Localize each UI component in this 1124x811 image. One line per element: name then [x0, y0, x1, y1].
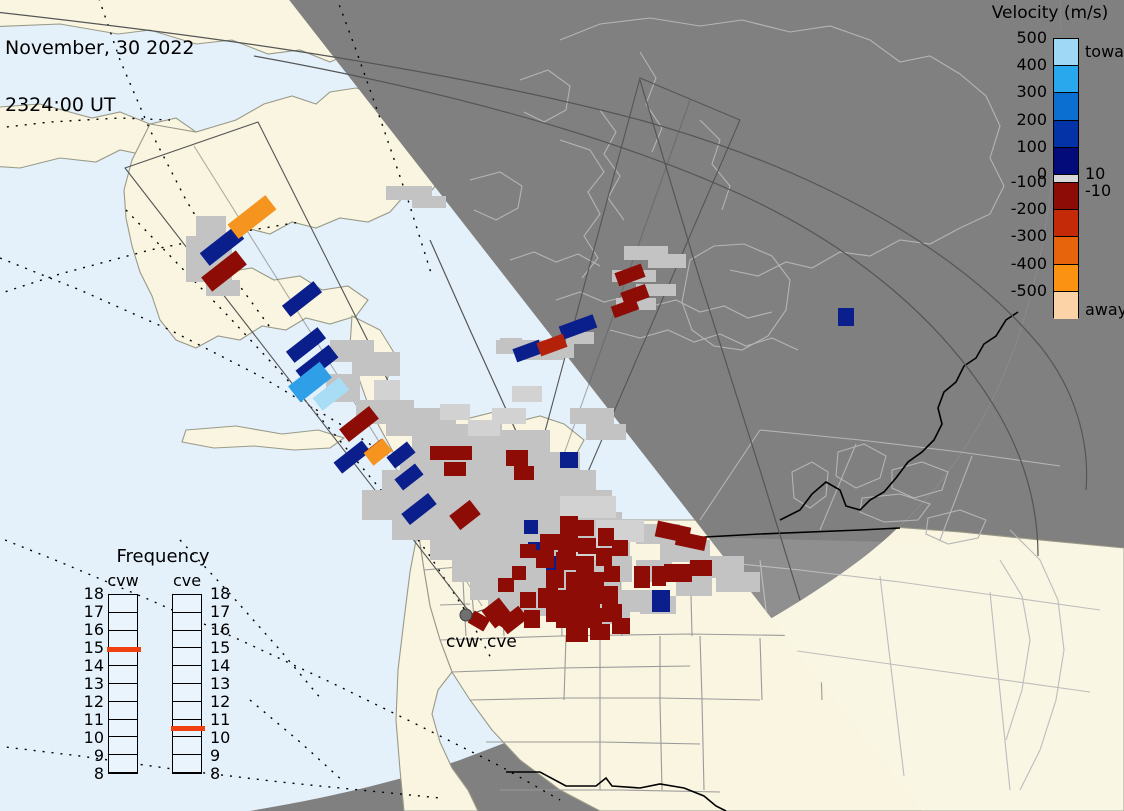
frequency-scale-label-15: 15	[210, 640, 234, 656]
frequency-scale-label-17: 17	[80, 604, 104, 620]
velocity-tick--200: -200	[992, 201, 1047, 217]
frequency-scale-label-11: 11	[80, 712, 104, 728]
site-label-cvw: cvw	[446, 632, 479, 652]
frequency-scale-label-10: 10	[210, 730, 234, 746]
frequency-cell	[109, 631, 137, 649]
velocity-tick--400: -400	[992, 256, 1047, 272]
fan-plot-canvas: November, 30 2022 2324:00 UT cvw cve Vel…	[0, 0, 1124, 811]
velocity-band-100	[1054, 148, 1078, 175]
frequency-scale-label-17: 17	[210, 604, 234, 620]
frequency-scale-label-12: 12	[80, 694, 104, 710]
velocity-band--400	[1054, 265, 1078, 292]
frequency-bar-cvw[interactable]	[108, 594, 138, 774]
velocity-band-200	[1054, 121, 1078, 148]
timestamp-date: November, 30 2022	[5, 39, 195, 58]
timestamp: November, 30 2022 2324:00 UT	[5, 1, 195, 153]
radar-site-marker	[460, 609, 472, 621]
frequency-cell	[109, 613, 137, 631]
frequency-scale-label-9: 9	[80, 748, 104, 764]
frequency-bar-cve[interactable]	[172, 594, 202, 774]
velocity-tick-500: 500	[992, 30, 1047, 46]
frequency-column-name-cvw: cvw	[107, 571, 138, 590]
frequency-cell	[173, 595, 201, 613]
frequency-column-cvw: cvw18171615141312111098	[108, 594, 138, 774]
velocity-colorbar: Velocity (m/s) 5004003002001000-100-200-…	[975, 0, 1124, 330]
frequency-cell	[173, 737, 201, 755]
velocity-tick-100: 100	[992, 139, 1047, 155]
frequency-scale-label-13: 13	[80, 676, 104, 692]
velocity-band--500	[1054, 292, 1078, 319]
frequency-marker-cvw	[107, 647, 141, 652]
frequency-cell	[109, 666, 137, 684]
velocity-tick-400: 400	[992, 57, 1047, 73]
frequency-scale-label-14: 14	[210, 658, 234, 674]
frequency-legend: Frequency cvw18171615141312111098cve1817…	[88, 546, 238, 791]
velocity-band--300	[1054, 237, 1078, 264]
frequency-cell	[109, 595, 137, 613]
frequency-cell	[173, 684, 201, 702]
velocity-tick-300: 300	[992, 84, 1047, 100]
velocity-band--100	[1054, 183, 1078, 210]
frequency-scale-label-10: 10	[80, 730, 104, 746]
velocity-toward-label: toward	[1085, 44, 1124, 60]
velocity-band-400	[1054, 66, 1078, 93]
frequency-cell	[173, 648, 201, 666]
frequency-cell	[173, 666, 201, 684]
velocity-band-500	[1054, 39, 1078, 66]
frequency-column-cve: cve18171615141312111098	[172, 594, 202, 774]
frequency-cell	[173, 702, 201, 720]
frequency-scale-label-9: 9	[210, 748, 234, 764]
velocity-tick--100: -100	[992, 174, 1047, 190]
velocity-colorbar-strip	[1053, 38, 1079, 318]
frequency-cell	[109, 720, 137, 738]
velocity-band--200	[1054, 210, 1078, 237]
velocity-zero-lower-label: -10	[1085, 183, 1111, 199]
velocity-band-0	[1054, 175, 1078, 183]
frequency-scale-label-8: 8	[80, 766, 104, 782]
frequency-marker-cve	[171, 726, 205, 731]
velocity-tick--500: -500	[992, 283, 1047, 299]
frequency-legend-title: Frequency	[88, 546, 238, 567]
frequency-scale-label-8: 8	[210, 766, 234, 782]
velocity-tick--300: -300	[992, 228, 1047, 244]
frequency-scale-label-18: 18	[210, 586, 234, 602]
frequency-cell	[109, 737, 137, 755]
frequency-column-name-cve: cve	[173, 571, 201, 590]
frequency-cell	[173, 631, 201, 649]
frequency-scale-label-16: 16	[80, 622, 104, 638]
frequency-cell	[109, 755, 137, 773]
frequency-scale-label-18: 18	[80, 586, 104, 602]
velocity-away-label: away	[1085, 302, 1124, 318]
frequency-cell	[173, 755, 201, 773]
velocity-zero-upper-label: 10	[1085, 166, 1105, 182]
velocity-tick-200: 200	[992, 112, 1047, 128]
timestamp-time: 2324:00 UT	[5, 96, 195, 115]
frequency-scale-label-11: 11	[210, 712, 234, 728]
site-label-cve: cve	[487, 632, 517, 652]
frequency-scale-label-14: 14	[80, 658, 104, 674]
frequency-scale-label-13: 13	[210, 676, 234, 692]
velocity-colorbar-title: Velocity (m/s)	[980, 3, 1120, 23]
frequency-cell	[109, 702, 137, 720]
frequency-cell	[109, 684, 137, 702]
frequency-cell	[173, 613, 201, 631]
frequency-scale-label-16: 16	[210, 622, 234, 638]
frequency-scale-label-15: 15	[80, 640, 104, 656]
velocity-band-300	[1054, 93, 1078, 120]
frequency-scale-label-12: 12	[210, 694, 234, 710]
